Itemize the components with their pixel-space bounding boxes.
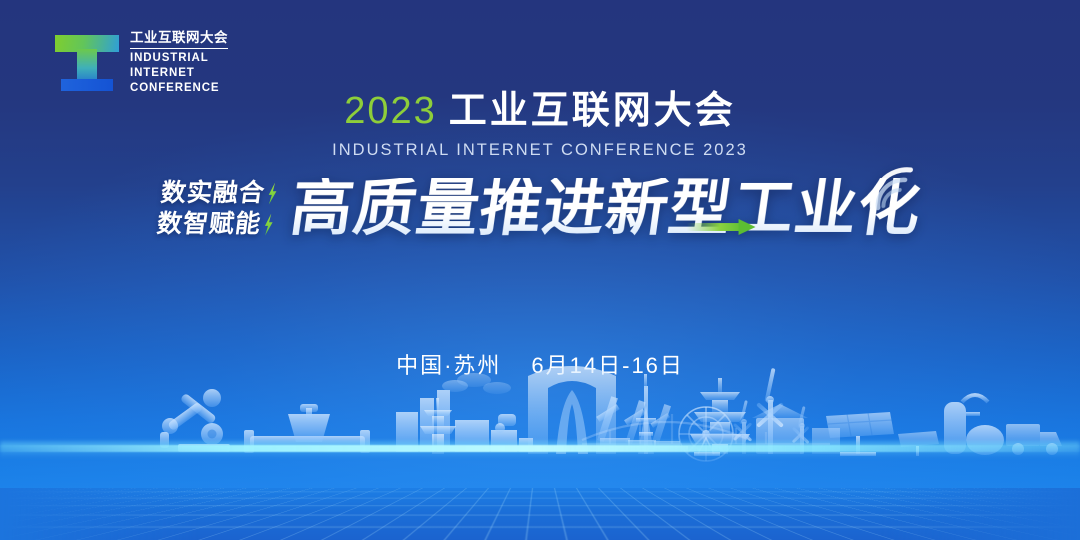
pagoda-icon — [420, 398, 456, 454]
event-location: 中国·苏州 — [396, 353, 501, 378]
title-block: 2023工业互联网大会 INDUSTRIAL INTERNET CONFEREN… — [0, 92, 1080, 160]
low-buildings — [752, 404, 840, 454]
logo-english-line-2: INTERNET — [130, 67, 195, 79]
title-subtitle: INDUSTRIAL INTERNET CONFERENCE 2023 — [0, 141, 1080, 160]
wind-turbine-icon — [733, 400, 752, 454]
truck-icon — [1006, 424, 1062, 455]
slogan-secondary-text-1: 数实融合 — [160, 180, 267, 207]
valve-pipe-icon — [244, 404, 370, 453]
perspective-grid-ground — [0, 488, 1080, 540]
oil-pump-icon — [596, 396, 688, 452]
pagoda-icon — [690, 378, 750, 454]
event-date: 6月14日-16日 — [531, 353, 684, 378]
slogan-main-text: 高质量推进新型工业化 — [286, 174, 926, 243]
storage-tank-icon — [944, 395, 1004, 455]
horizon-glow — [0, 442, 1080, 458]
lightning-bolt-icon — [266, 183, 280, 205]
logo-english-name: INDUSTRIAL INTERNET CONFERENCE — [130, 51, 228, 97]
logo-chinese-name: 工业互联网大会 — [130, 30, 228, 49]
slogan-secondary-line-2: 数智赋能 — [156, 211, 276, 238]
slogan-main: 高质量推进新型工业化 — [286, 178, 925, 240]
page-title: 2023工业互联网大会 — [0, 92, 1080, 132]
slogan-secondary-text-2: 数智赋能 — [156, 211, 263, 238]
title-chinese: 工业互联网大会 — [449, 90, 736, 132]
bridge-icon — [582, 414, 830, 444]
lightning-bolt-icon — [262, 214, 276, 236]
robotic-arm-icon — [160, 389, 230, 452]
horizon-line — [0, 445, 1080, 452]
slogan-secondary-line-1: 数实融合 — [160, 180, 280, 207]
factory-smokestack-icon — [396, 373, 533, 452]
conference-banner: 工业互联网大会 INDUSTRIAL INTERNET CONFERENCE 2… — [0, 0, 1080, 540]
event-meta: 中国·苏州6月14日-16日 — [0, 348, 1080, 380]
logo-english-line-1: INDUSTRIAL — [130, 52, 209, 64]
wind-turbine-icon — [792, 406, 810, 454]
slogan-secondary: 数实融合 数智赋能 — [156, 180, 280, 238]
wind-turbine-icon — [756, 368, 784, 454]
title-year: 2023 — [344, 90, 437, 132]
ferris-wheel-icon — [679, 407, 733, 461]
conference-logo-icon — [55, 35, 119, 91]
logo-block: 工业互联网大会 INDUSTRIAL INTERNET CONFERENCE — [55, 30, 228, 96]
slogan-block: 数实融合 数智赋能 高质量推进新型工业化 — [0, 178, 1080, 240]
solar-panel-icon — [826, 412, 939, 456]
logo-text: 工业互联网大会 INDUSTRIAL INTERNET CONFERENCE — [130, 30, 228, 96]
skyline-shapes — [160, 366, 1062, 461]
tv-tower-icon — [636, 374, 656, 454]
background-glow — [0, 96, 1080, 540]
